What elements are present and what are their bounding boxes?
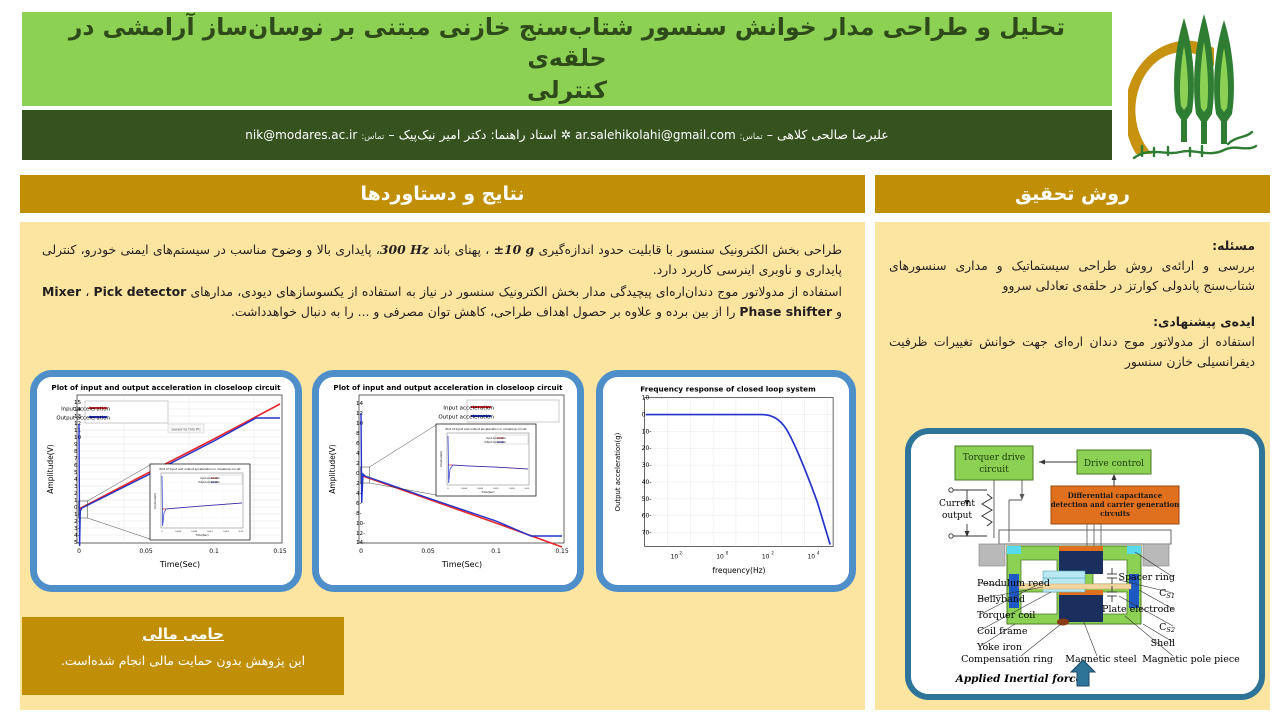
svg-text:-20: -20 bbox=[642, 445, 652, 452]
chart-card-input-output-positive[interactable]: Plot of input and output acceleration in… bbox=[30, 370, 302, 592]
svg-text:10: 10 bbox=[356, 421, 364, 427]
sponsor-text: این پژوهش بدون حمایت مالی انجام شده‌است. bbox=[32, 653, 334, 668]
label-spacer-ring: Spacer ring bbox=[1118, 572, 1175, 583]
results-bandwidth: 300 Hz bbox=[380, 240, 429, 260]
svg-text:12: 12 bbox=[74, 421, 81, 427]
poster-title-bar: تحلیل و طراحی مدار خوانش سنسور شتاب‌سنج … bbox=[22, 12, 1112, 106]
shell-left bbox=[979, 544, 1005, 566]
svg-text:-60: -60 bbox=[642, 513, 652, 520]
svg-text:-2: -2 bbox=[74, 519, 80, 525]
svg-text:-2: -2 bbox=[356, 481, 362, 487]
svg-text:-70: -70 bbox=[642, 530, 652, 537]
section-header-results: نتایج و دستاوردها bbox=[20, 175, 865, 213]
authors-line: علیرضا صالحی کلاهی – تماس: ar.salehikola… bbox=[245, 127, 888, 144]
svg-text:-4: -4 bbox=[356, 491, 362, 497]
results-measure-range: ±10 g bbox=[494, 240, 535, 260]
svg-text:3: 3 bbox=[74, 484, 78, 490]
svg-text:Input acceleration: Input acceleration bbox=[61, 407, 110, 413]
svg-text:0.004: 0.004 bbox=[461, 488, 467, 490]
svg-text:11: 11 bbox=[74, 428, 82, 434]
svg-text:10: 10 bbox=[671, 553, 679, 560]
torquer-drive-circuit-block: Torquer drive circuit bbox=[955, 446, 1033, 480]
svg-text:-6: -6 bbox=[356, 501, 362, 507]
svg-text:-12: -12 bbox=[356, 531, 365, 537]
svg-text:circuit: circuit bbox=[979, 465, 1009, 475]
svg-text:-10: -10 bbox=[356, 521, 365, 527]
chart-2-ylabel: Amplitude(V) bbox=[328, 444, 337, 493]
results-p2-seg-b: را از بین برده و علاوه بر حصول اهداف طرا… bbox=[231, 304, 740, 319]
svg-text:-30: -30 bbox=[642, 462, 652, 469]
svg-text:detection and carrier generati: detection and carrier generation bbox=[1051, 500, 1180, 509]
advisor-contact-label: تماس: bbox=[361, 132, 384, 142]
svg-text:0.05: 0.05 bbox=[139, 548, 153, 555]
svg-text:0.15: 0.15 bbox=[273, 548, 287, 555]
results-paragraph-1: طراحی بخش الکترونیک سنسور با قابلیت حدود… bbox=[42, 240, 842, 280]
results-p1-seg-b: ، پهنای باند bbox=[429, 242, 494, 257]
svg-text:9: 9 bbox=[74, 442, 78, 448]
svg-text:output: output bbox=[942, 511, 972, 521]
method-spacer bbox=[889, 296, 1255, 312]
results-p1-seg-a: طراحی بخش الکترونیک سنسور با قابلیت حدود… bbox=[534, 242, 842, 257]
authors-separator-icon: ✲ bbox=[561, 127, 571, 142]
svg-text:circuits: circuits bbox=[1100, 509, 1130, 518]
author-contact-label: تماس: bbox=[740, 132, 763, 142]
spacer-ring-left bbox=[1007, 546, 1021, 554]
svg-text:0: 0 bbox=[77, 548, 81, 555]
svg-text:0.012: 0.012 bbox=[207, 531, 213, 533]
results-circuit-mixer: Mixer bbox=[42, 282, 81, 302]
method-body-text: مسئله: بررسی و ارائه‌ی روش طراحی سیستمات… bbox=[889, 236, 1255, 373]
svg-text:-3: -3 bbox=[74, 526, 80, 532]
svg-text:Plot of input and output accel: Plot of input and output acceleration in… bbox=[160, 467, 242, 471]
chart-card-frequency-response[interactable]: Frequency response of closed loop system… bbox=[596, 370, 856, 592]
author-name: علیرضا صالحی کلاهی bbox=[777, 127, 889, 142]
method-problem-text: بررسی و ارائه‌ی روش طراحی سیستماتیک و مد… bbox=[889, 256, 1255, 296]
svg-text:Torquer drive: Torquer drive bbox=[963, 453, 1025, 463]
label-plate-electrode: Plate electrode bbox=[1102, 604, 1175, 615]
results-panel: طراحی بخش الکترونیک سنسور با قابلیت حدود… bbox=[20, 222, 865, 710]
svg-text:0.05: 0.05 bbox=[421, 548, 435, 555]
svg-text:Time(Sec): Time(Sec) bbox=[481, 490, 494, 494]
svg-text:Input acceleration: Input acceleration bbox=[200, 477, 220, 480]
chart-3-svg: Frequency response of closed loop system… bbox=[603, 377, 849, 585]
chart-1-xlabel: Time(Sec) bbox=[159, 560, 200, 569]
svg-text:-10: -10 bbox=[642, 428, 652, 435]
method-problem-label: مسئله: bbox=[889, 236, 1255, 256]
svg-text:10: 10 bbox=[716, 553, 724, 560]
chart-3-title: Frequency response of closed loop system bbox=[640, 385, 816, 394]
svg-text:0: 0 bbox=[356, 471, 360, 477]
svg-text:Amplitude(V): Amplitude(V) bbox=[154, 493, 157, 509]
chart-2-svg: Plot of input and output acceleration in… bbox=[319, 377, 577, 585]
chart-1-title: Plot of input and output acceleration in… bbox=[51, 383, 281, 392]
method-idea-text: استفاده از مدولاتور موج دندان اره‌ای جهت… bbox=[889, 332, 1255, 372]
sensor-structure-diagram-card[interactable]: Torquer drive circuit Drive control Diff… bbox=[905, 428, 1265, 700]
svg-text:Saved to this PC: Saved to this PC bbox=[171, 428, 201, 432]
svg-text:12: 12 bbox=[356, 411, 363, 417]
svg-text:10: 10 bbox=[762, 553, 770, 560]
svg-text:Time(Sec): Time(Sec) bbox=[195, 533, 208, 537]
svg-text:0.008: 0.008 bbox=[477, 488, 483, 490]
svg-text:0: 0 bbox=[74, 505, 78, 511]
results-paragraph-2: استفاده از مدولاتور موج دندان‌اره‌ای پیچ… bbox=[42, 282, 842, 322]
chart-1-annotation: Saved to this PC bbox=[168, 424, 204, 433]
svg-text:Current: Current bbox=[939, 499, 975, 509]
poster-title: تحلیل و طراحی مدار خوانش سنسور شتاب‌سنج … bbox=[36, 12, 1098, 106]
svg-text:0.008: 0.008 bbox=[191, 531, 197, 533]
svg-text:6: 6 bbox=[356, 441, 360, 447]
label-pendulum-reed: Pendulum reed bbox=[977, 578, 1050, 589]
svg-text:-4: -4 bbox=[74, 533, 80, 539]
svg-text:-14: -14 bbox=[356, 540, 365, 546]
svg-text:0.1: 0.1 bbox=[209, 548, 219, 555]
poster-root: تحلیل و طراحی مدار خوانش سنسور شتاب‌سنج … bbox=[0, 0, 1280, 720]
svg-text:4: 4 bbox=[74, 477, 78, 483]
label-yoke-iron: Yoke iron bbox=[976, 642, 1022, 653]
label-compensation-ring: Compensation ring bbox=[961, 654, 1053, 665]
svg-text:0.004: 0.004 bbox=[175, 531, 181, 533]
method-idea-label: ایده‌ی پیشنهادی: bbox=[889, 312, 1255, 332]
svg-text:7: 7 bbox=[74, 456, 78, 462]
shell-right bbox=[1143, 544, 1169, 566]
svg-text:Input acceleration: Input acceleration bbox=[486, 437, 506, 440]
advisor-label: استاد راهنما: bbox=[490, 127, 556, 142]
section-header-results-label: نتایج و دستاوردها bbox=[360, 183, 524, 205]
svg-text:Input acceleration: Input acceleration bbox=[443, 406, 494, 412]
svg-text:Output acceleration: Output acceleration bbox=[198, 481, 220, 484]
compensation-ring bbox=[1057, 619, 1069, 626]
university-logo bbox=[1128, 6, 1274, 166]
svg-text:Amplitude(V): Amplitude(V) bbox=[440, 451, 443, 467]
svg-text:0.15: 0.15 bbox=[555, 548, 569, 555]
chart-1-ylabel: Amplitude(V) bbox=[46, 444, 55, 493]
svg-text:-5: -5 bbox=[74, 540, 80, 546]
spacer-ring-right bbox=[1127, 546, 1141, 554]
svg-text:1: 1 bbox=[74, 498, 78, 504]
svg-text:2: 2 bbox=[74, 491, 78, 497]
svg-text:10: 10 bbox=[642, 395, 650, 402]
svg-text:10: 10 bbox=[74, 435, 82, 441]
section-header-method: روش تحقیق bbox=[875, 175, 1270, 213]
svg-text:4: 4 bbox=[356, 451, 360, 457]
svg-text:10: 10 bbox=[808, 553, 816, 560]
differential-capacitance-block: Differential capacitance detection and c… bbox=[1051, 486, 1180, 524]
svg-text:Output acceleration: Output acceleration bbox=[438, 415, 494, 421]
chart-1-svg: Plot of input and output acceleration in… bbox=[37, 377, 295, 585]
svg-text:5: 5 bbox=[74, 470, 78, 476]
magnetic-steel-bottom bbox=[1059, 594, 1103, 622]
authors-bar: علیرضا صالحی کلاهی – تماس: ar.salehikola… bbox=[22, 110, 1112, 160]
svg-text:Drive control: Drive control bbox=[1084, 459, 1144, 469]
svg-text:Differential capacitance: Differential capacitance bbox=[1068, 491, 1163, 500]
chart-2-title: Plot of input and output acceleration in… bbox=[333, 383, 563, 392]
svg-text:Plot of input and output accel: Plot of input and output acceleration in… bbox=[446, 427, 528, 431]
label-magnetic-steel: Magnetic steel bbox=[1065, 654, 1136, 665]
author-email[interactable]: ar.salehikolahi@gmail.com bbox=[575, 128, 736, 142]
svg-text:0.016: 0.016 bbox=[509, 488, 515, 490]
magnetic-steel-top bbox=[1059, 550, 1103, 574]
poster-title-line-2: کنترلی bbox=[36, 75, 1098, 106]
svg-text:-40: -40 bbox=[642, 479, 652, 486]
svg-text:8: 8 bbox=[356, 431, 360, 437]
results-body-text: طراحی بخش الکترونیک سنسور با قابلیت حدود… bbox=[42, 240, 842, 324]
poster-title-line-1: تحلیل و طراحی مدار خوانش سنسور شتاب‌سنج … bbox=[36, 12, 1098, 75]
svg-text:0.016: 0.016 bbox=[223, 531, 229, 533]
results-p2-seg-a: استفاده از مدولاتور موج دندان‌اره‌ای پیچ… bbox=[186, 284, 842, 299]
svg-text:0.02: 0.02 bbox=[239, 531, 244, 533]
svg-text:0.02: 0.02 bbox=[525, 488, 530, 490]
diagram-caption: Applied Inertial force bbox=[955, 673, 1083, 685]
results-circuit-pick-detector: Pick detector bbox=[94, 282, 187, 302]
sensor-structure-diagram: Torquer drive circuit Drive control Diff… bbox=[911, 434, 1259, 694]
svg-text:0: 0 bbox=[359, 548, 363, 555]
svg-text:Output acceleration: Output acceleration bbox=[484, 441, 506, 444]
advisor-name: دکتر امیر نیک‌پیک bbox=[399, 127, 487, 142]
svg-text:-50: -50 bbox=[642, 496, 652, 503]
chart-2-xlabel: Time(Sec) bbox=[441, 560, 482, 569]
svg-text:6: 6 bbox=[74, 463, 78, 469]
svg-text:0: 0 bbox=[642, 412, 646, 419]
drive-control-block: Drive control bbox=[1077, 450, 1151, 474]
chart-2-inset: Plot of input and output acceleration in… bbox=[436, 424, 536, 496]
results-p2-and: و bbox=[832, 304, 842, 319]
results-circuit-phase-shifter: Phase shifter bbox=[739, 302, 832, 322]
advisor-email[interactable]: nik@modares.ac.ir bbox=[245, 128, 357, 142]
svg-text:0.012: 0.012 bbox=[493, 488, 499, 490]
svg-text:Output acceleration: Output acceleration bbox=[56, 416, 110, 422]
chart-1-inset: Plot of input and output acceleration in… bbox=[150, 464, 250, 540]
chart-3-xlabel: frequency(Hz) bbox=[712, 566, 765, 575]
chart-card-input-output-negative[interactable]: Plot of input and output acceleration in… bbox=[312, 370, 584, 592]
svg-text:2: 2 bbox=[356, 461, 360, 467]
svg-text:-2: -2 bbox=[679, 550, 684, 555]
svg-text:14: 14 bbox=[356, 401, 364, 407]
svg-text:0.1: 0.1 bbox=[491, 548, 501, 555]
section-header-method-label: روش تحقیق bbox=[1015, 183, 1130, 205]
svg-text:15: 15 bbox=[74, 400, 82, 406]
chart-3-ylabel: Output acceleration(g) bbox=[614, 432, 622, 511]
sponsor-title: حامی مالی bbox=[32, 625, 334, 643]
svg-text:8: 8 bbox=[74, 449, 78, 455]
svg-text:-8: -8 bbox=[356, 511, 362, 517]
sponsor-box: حامی مالی این پژوهش بدون حمایت مالی انجا… bbox=[22, 617, 344, 695]
label-magnetic-pole-piece: Magnetic pole piece bbox=[1142, 654, 1240, 665]
results-p2-sep: ، bbox=[81, 284, 93, 299]
method-panel: مسئله: بررسی و ارائه‌ی روش طراحی سیستمات… bbox=[875, 222, 1270, 710]
